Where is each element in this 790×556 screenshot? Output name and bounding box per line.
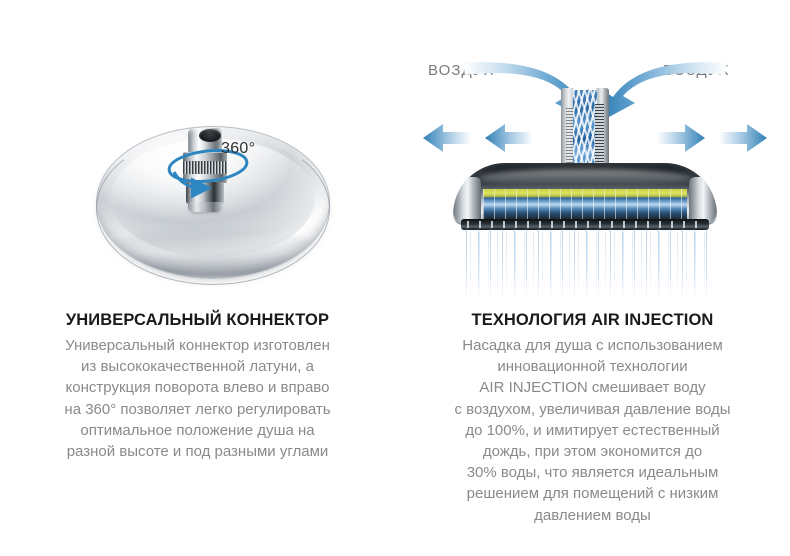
description-right-line: Насадка для душа с использованием: [395, 335, 790, 356]
page-title-left: УНИВЕРСАЛЬНЫЙ КОННЕКТОР: [0, 310, 395, 330]
shower-head-disc-group: 360°: [96, 126, 328, 291]
description-right-line: дождь, при этом экономится до: [395, 441, 790, 462]
description-left-line: на 360° позволяет легко регулировать: [0, 399, 395, 420]
dome-highlight: [477, 169, 693, 187]
infographic-root: 360° УНИВЕРСАЛЬНЫЙ КОННЕКТОР Универсальн…: [0, 0, 790, 556]
venturi-riser: [561, 88, 609, 174]
dome-internal-chamber: [483, 189, 687, 219]
panel-air-injection: ВОЗДУХ ВОЗДУХ: [395, 0, 790, 556]
description-right-line: давлением воды: [395, 505, 790, 526]
water-spray-detail: [465, 233, 705, 299]
caption-universal-connector: УНИВЕРСАЛЬНЫЙ КОННЕКТОР Универсальный ко…: [0, 310, 395, 462]
page-title-right: ТЕХНОЛОГИЯ AIR INJECTION: [395, 310, 790, 330]
aerated-water-flow: [573, 90, 597, 174]
description-right-line: инновационной технологии: [395, 356, 790, 377]
description-right-line: до 100%, и имитирует естественный: [395, 420, 790, 441]
description-left: Универсальный коннектор изготовлен из вы…: [0, 335, 395, 462]
description-left-line: из высококачественной латуни, а: [0, 356, 395, 377]
description-left-line: разной высоте и под разными углами: [0, 441, 395, 462]
description-left-line: оптимальное положение душа на: [0, 420, 395, 441]
figure-universal-connector: 360°: [0, 0, 395, 305]
description-right-line: 30% воды, что является идеальным: [395, 462, 790, 483]
description-right-line: решением для помещений с низким: [395, 483, 790, 504]
dome-rim-right: [689, 177, 717, 225]
description-left-line: конструкция поворота влево и вправо: [0, 377, 395, 398]
description-right-line: с воздухом, увеличивая давление воды: [395, 399, 790, 420]
shower-head-dome-cutaway: [453, 163, 717, 225]
venturi-fins-left: [566, 108, 573, 166]
description-right-line: AIR INJECTION смешивает воду: [395, 377, 790, 398]
venturi-fins-right: [595, 104, 604, 170]
caption-air-injection: ТЕХНОЛОГИЯ AIR INJECTION Насадка для душ…: [395, 310, 790, 526]
panel-universal-connector: 360° УНИВЕРСАЛЬНЫЙ КОННЕКТОР Универсальн…: [0, 0, 395, 556]
connector-base: [188, 202, 222, 212]
description-left-line: Универсальный коннектор изготовлен: [0, 335, 395, 356]
rotation-angle-label: 360°: [221, 140, 255, 158]
description-right: Насадка для душа с использованием иннова…: [395, 335, 790, 526]
dome-rim-left: [453, 177, 481, 225]
figure-air-injection: ВОЗДУХ ВОЗДУХ: [395, 0, 790, 305]
